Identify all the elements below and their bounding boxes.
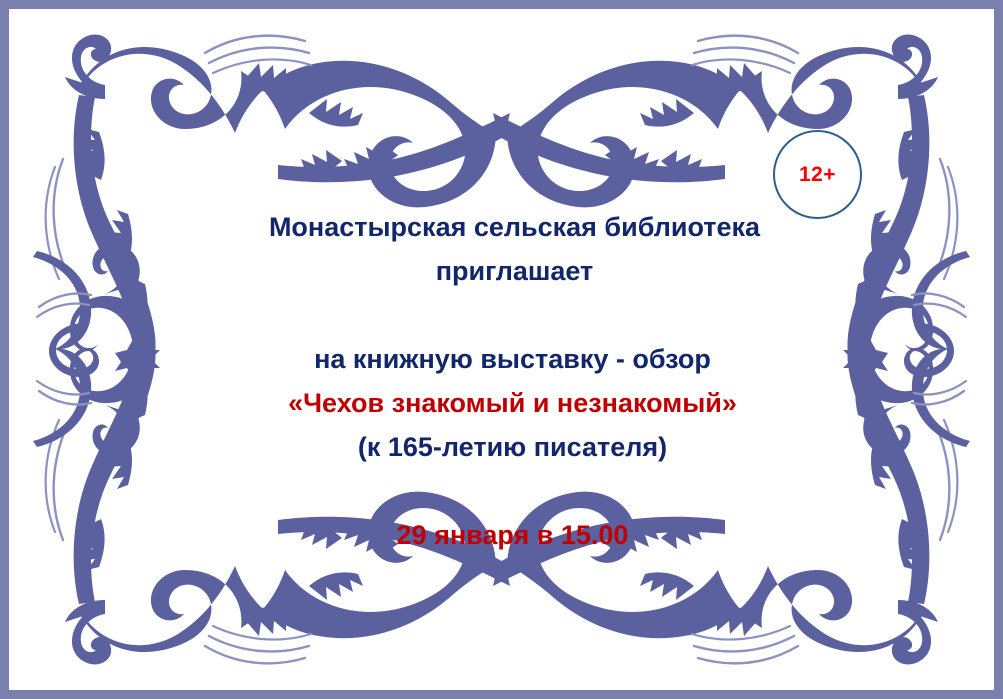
- schedule-group: 29 января в 15.00: [31, 513, 994, 557]
- exhibition-title: «Чехов знакомый и незнакомый»: [31, 381, 994, 425]
- exhibition-line-1: на книжную выставку - обзор: [31, 337, 994, 381]
- exhibition-subtitle: (к 165-летию писателя): [31, 425, 994, 469]
- age-rating-label: 12+: [799, 164, 836, 185]
- poster-text-block: Монастырская сельская библиотека приглаш…: [9, 205, 994, 557]
- invitation-line-2: приглашает: [35, 249, 994, 293]
- text-spacer-2: [9, 469, 994, 513]
- invitation-group: Монастырская сельская библиотека приглаш…: [35, 205, 994, 293]
- invitation-line-1: Монастырская сельская библиотека: [35, 205, 994, 249]
- text-spacer-1: [9, 293, 994, 337]
- exhibition-group: на книжную выставку - обзор «Чехов знако…: [31, 337, 994, 469]
- event-datetime: 29 января в 15.00: [31, 513, 994, 557]
- poster: 12+ Монастырская сельская библиотека при…: [0, 0, 1003, 699]
